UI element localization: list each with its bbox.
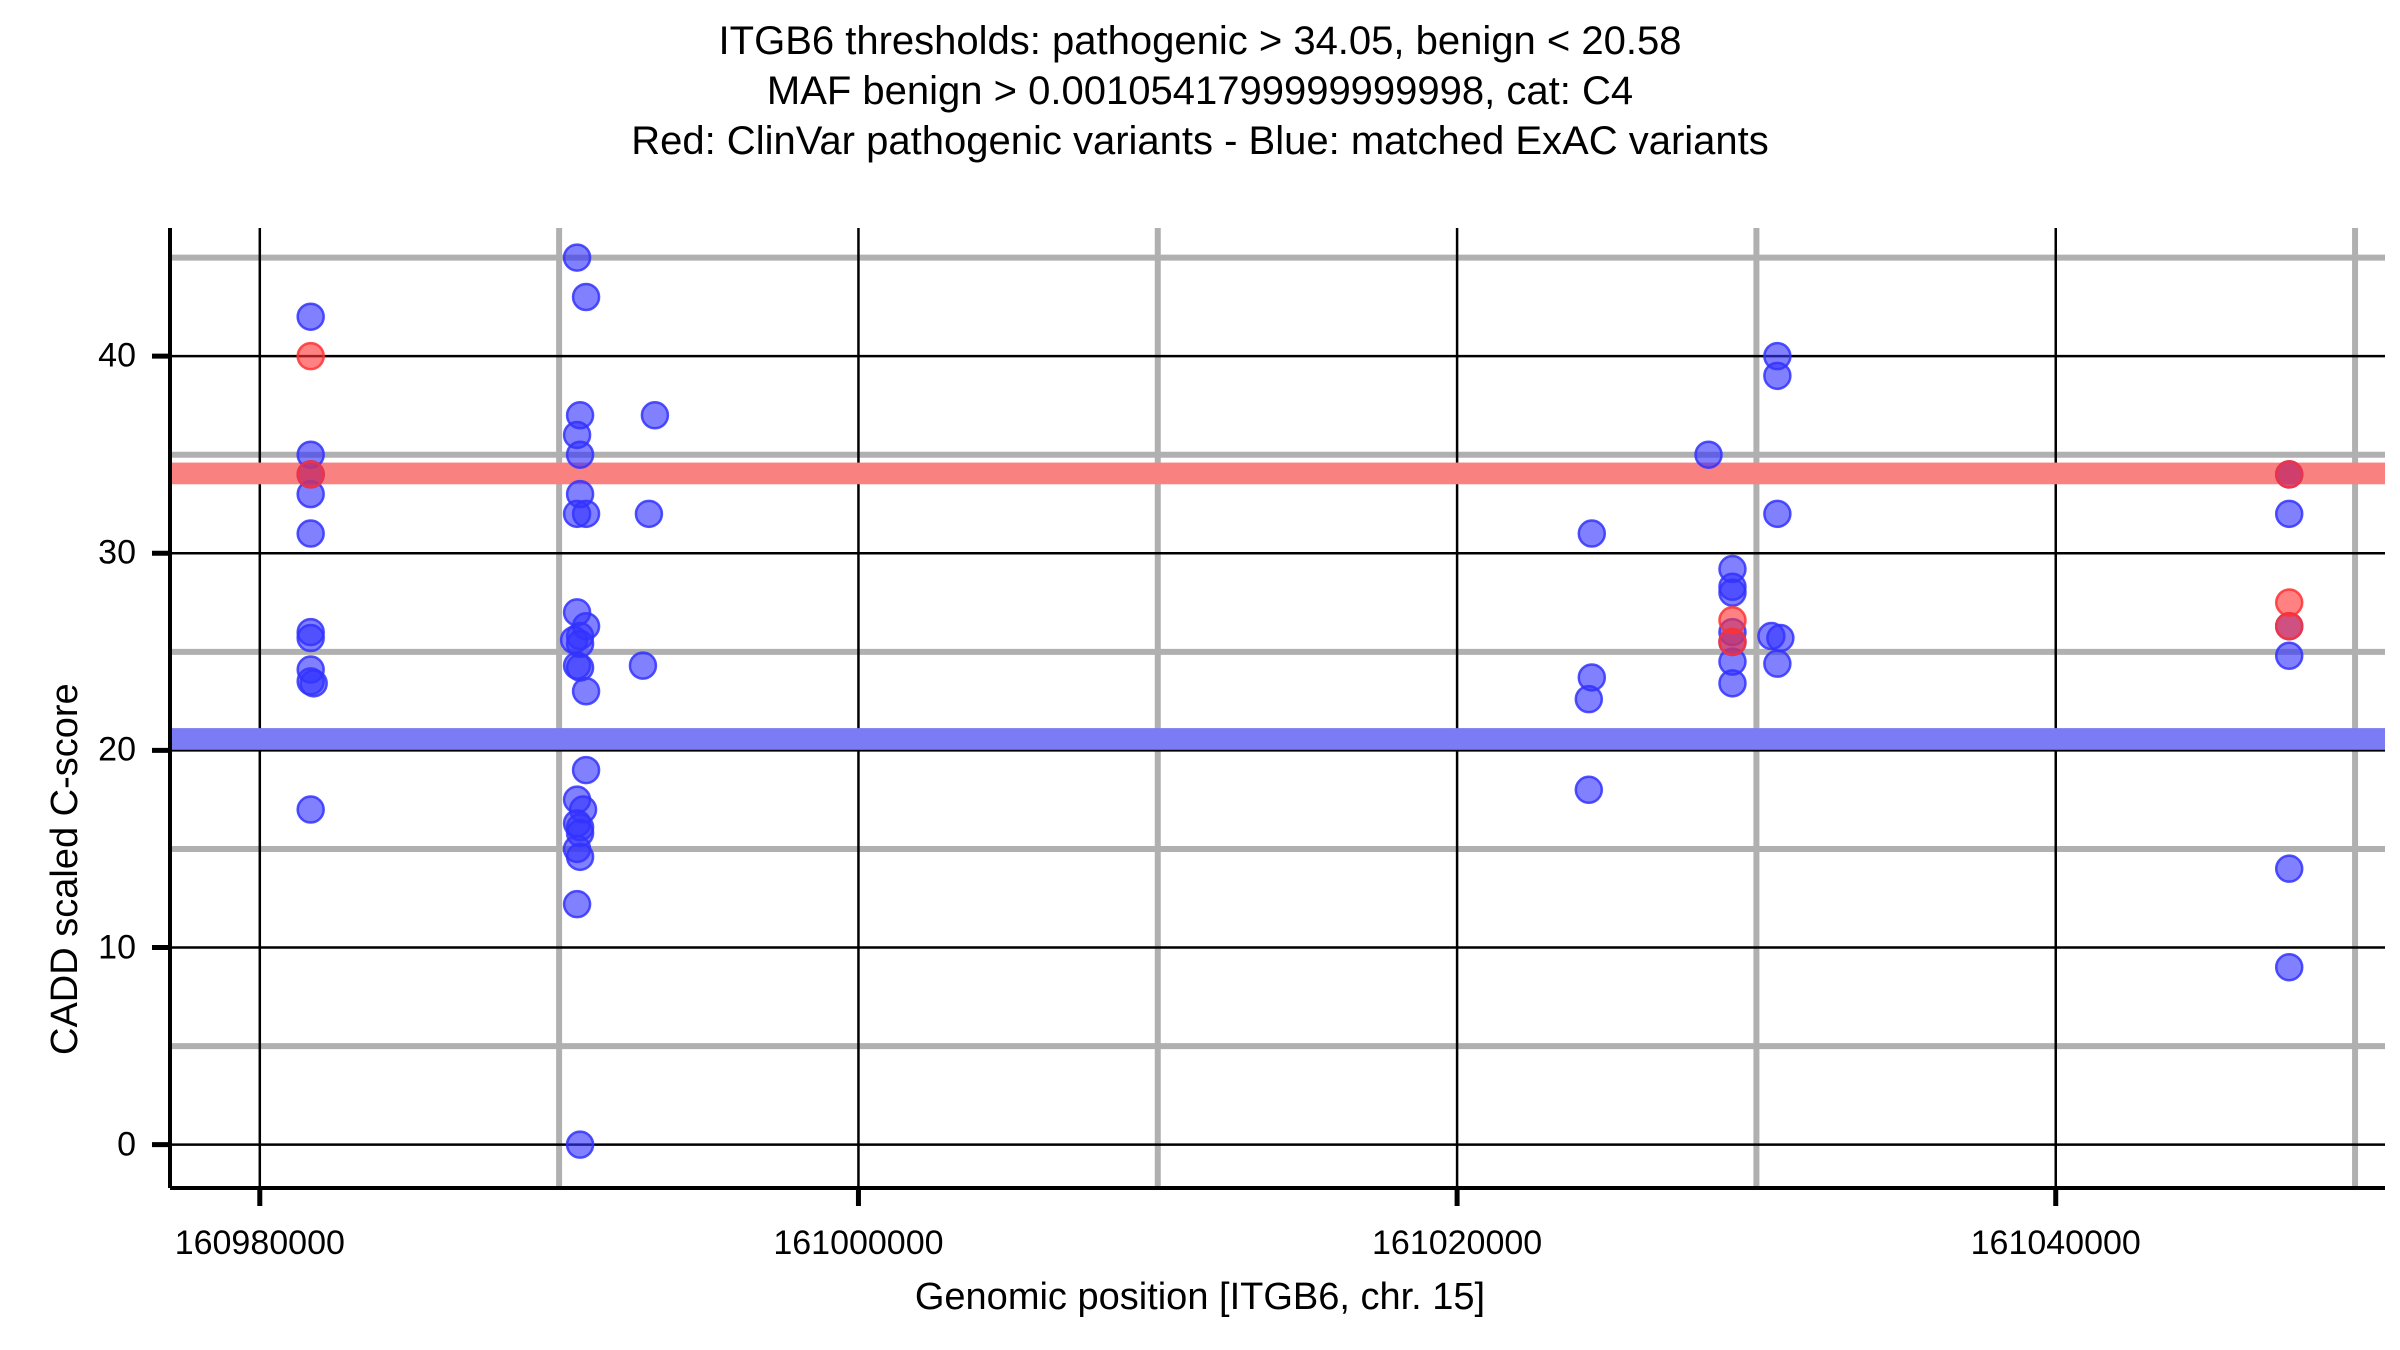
scatter-point (1764, 651, 1790, 677)
y-axis-title: CADD scaled C-score (44, 55, 87, 1055)
scatter-point (1764, 501, 1790, 527)
x-tick-label: 161040000 (1971, 1224, 2141, 1263)
scatter-point (1719, 580, 1745, 606)
scatter-point (298, 521, 324, 547)
scatter-point (1719, 629, 1745, 655)
scatter-point (642, 402, 668, 428)
scatter-point (573, 678, 599, 704)
threshold-bands (170, 463, 2385, 750)
scatter-point (567, 844, 593, 870)
scatter-point (2276, 954, 2302, 980)
scatter-point (2276, 643, 2302, 669)
scatter-point (1579, 521, 1605, 547)
scatter-point (298, 461, 324, 487)
x-tick-label: 160980000 (175, 1224, 345, 1263)
chart-figure: ITGB6 thresholds: pathogenic > 34.05, be… (0, 0, 2400, 1350)
scatter-point (573, 757, 599, 783)
x-axis-title: Genomic position [ITGB6, chr. 15] (0, 1276, 2400, 1319)
data-points (298, 245, 2303, 1158)
scatter-point (298, 797, 324, 823)
scatter-point (564, 891, 590, 917)
scatter-point (1767, 625, 1793, 651)
scatter-point (2276, 590, 2302, 616)
scatter-point (2276, 856, 2302, 882)
x-tick-label: 161020000 (1372, 1224, 1542, 1263)
pathogenic-threshold-band (170, 463, 2385, 485)
scatter-point (2276, 461, 2302, 487)
scatter-point (567, 442, 593, 468)
y-tick-label: 0 (0, 1125, 136, 1164)
scatter-point (2276, 501, 2302, 527)
scatter-point (573, 501, 599, 527)
scatter-point (301, 670, 327, 696)
scatter-point (298, 625, 324, 651)
scatter-point (2276, 613, 2302, 639)
scatter-point (1576, 777, 1602, 803)
scatter-point (573, 284, 599, 310)
minor-gridlines (170, 228, 2385, 1188)
scatter-point (564, 245, 590, 271)
scatter-plot-canvas (0, 0, 2400, 1350)
scatter-point (1764, 363, 1790, 389)
scatter-point (1696, 442, 1722, 468)
scatter-point (630, 653, 656, 679)
scatter-point (567, 655, 593, 681)
x-tick-label: 161000000 (773, 1224, 943, 1263)
benign-threshold-band (170, 728, 2385, 750)
scatter-point (567, 1132, 593, 1158)
scatter-point (636, 501, 662, 527)
scatter-point (1576, 686, 1602, 712)
scatter-point (298, 343, 324, 369)
scatter-point (1719, 670, 1745, 696)
scatter-point (298, 304, 324, 330)
